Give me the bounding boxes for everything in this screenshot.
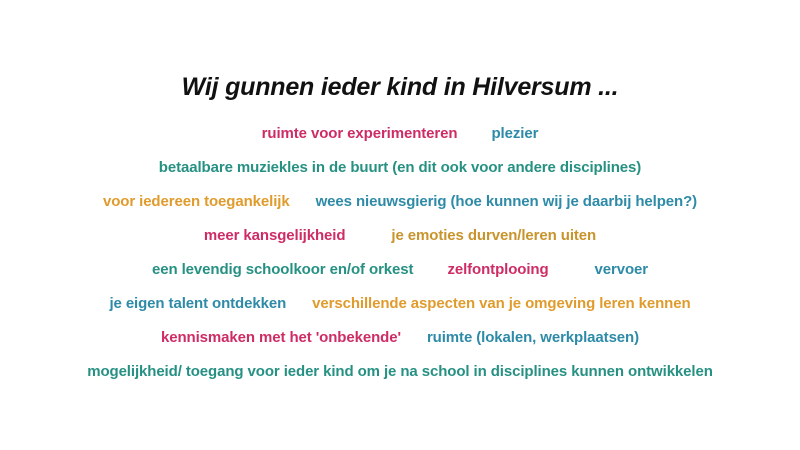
word-cloud-phrase: je eigen talent ontdekken xyxy=(109,287,286,321)
word-cloud-row: meer kansgelijkheid je emoties durven/le… xyxy=(0,219,800,253)
word-cloud-row: betaalbare muziekles in de buurt (en dit… xyxy=(0,151,800,185)
word-cloud-row: mogelijkheid/ toegang voor ieder kind om… xyxy=(0,355,800,389)
word-cloud-phrase: voor iedereen toegankelijk xyxy=(103,185,290,219)
word-cloud-phrase: mogelijkheid/ toegang voor ieder kind om… xyxy=(87,355,713,389)
word-cloud-phrase: wees nieuwsgierig (hoe kunnen wij je daa… xyxy=(316,185,697,219)
word-cloud-row: ruimte voor experimenteren plezier xyxy=(0,117,800,151)
slide-canvas: Wij gunnen ieder kind in Hilversum ... r… xyxy=(0,0,800,450)
page-title: Wij gunnen ieder kind in Hilversum ... xyxy=(0,73,800,102)
word-cloud-phrase: ruimte (lokalen, werkplaatsen) xyxy=(427,321,639,355)
word-cloud-row: een levendig schoolkoor en/of orkest zel… xyxy=(0,253,800,287)
word-cloud-phrase: betaalbare muziekles in de buurt (en dit… xyxy=(159,151,641,185)
word-cloud-phrase: zelfontplooing xyxy=(447,253,548,287)
word-cloud-phrase: je emoties durven/leren uiten xyxy=(391,219,596,253)
word-cloud-phrase: vervoer xyxy=(595,253,649,287)
word-cloud-phrase: kennismaken met het 'onbekende' xyxy=(161,321,401,355)
word-cloud-row: voor iedereen toegankelijk wees nieuwsgi… xyxy=(0,185,800,219)
word-cloud-phrase: verschillende aspecten van je omgeving l… xyxy=(312,287,690,321)
word-cloud: ruimte voor experimenteren plezier betaa… xyxy=(0,117,800,389)
word-cloud-row: kennismaken met het 'onbekende' ruimte (… xyxy=(0,321,800,355)
word-cloud-row: je eigen talent ontdekken verschillende … xyxy=(0,287,800,321)
word-cloud-phrase: een levendig schoolkoor en/of orkest xyxy=(152,253,413,287)
word-cloud-phrase: ruimte voor experimenteren xyxy=(262,117,458,151)
word-cloud-phrase: meer kansgelijkheid xyxy=(204,219,346,253)
word-cloud-phrase: plezier xyxy=(491,117,538,151)
